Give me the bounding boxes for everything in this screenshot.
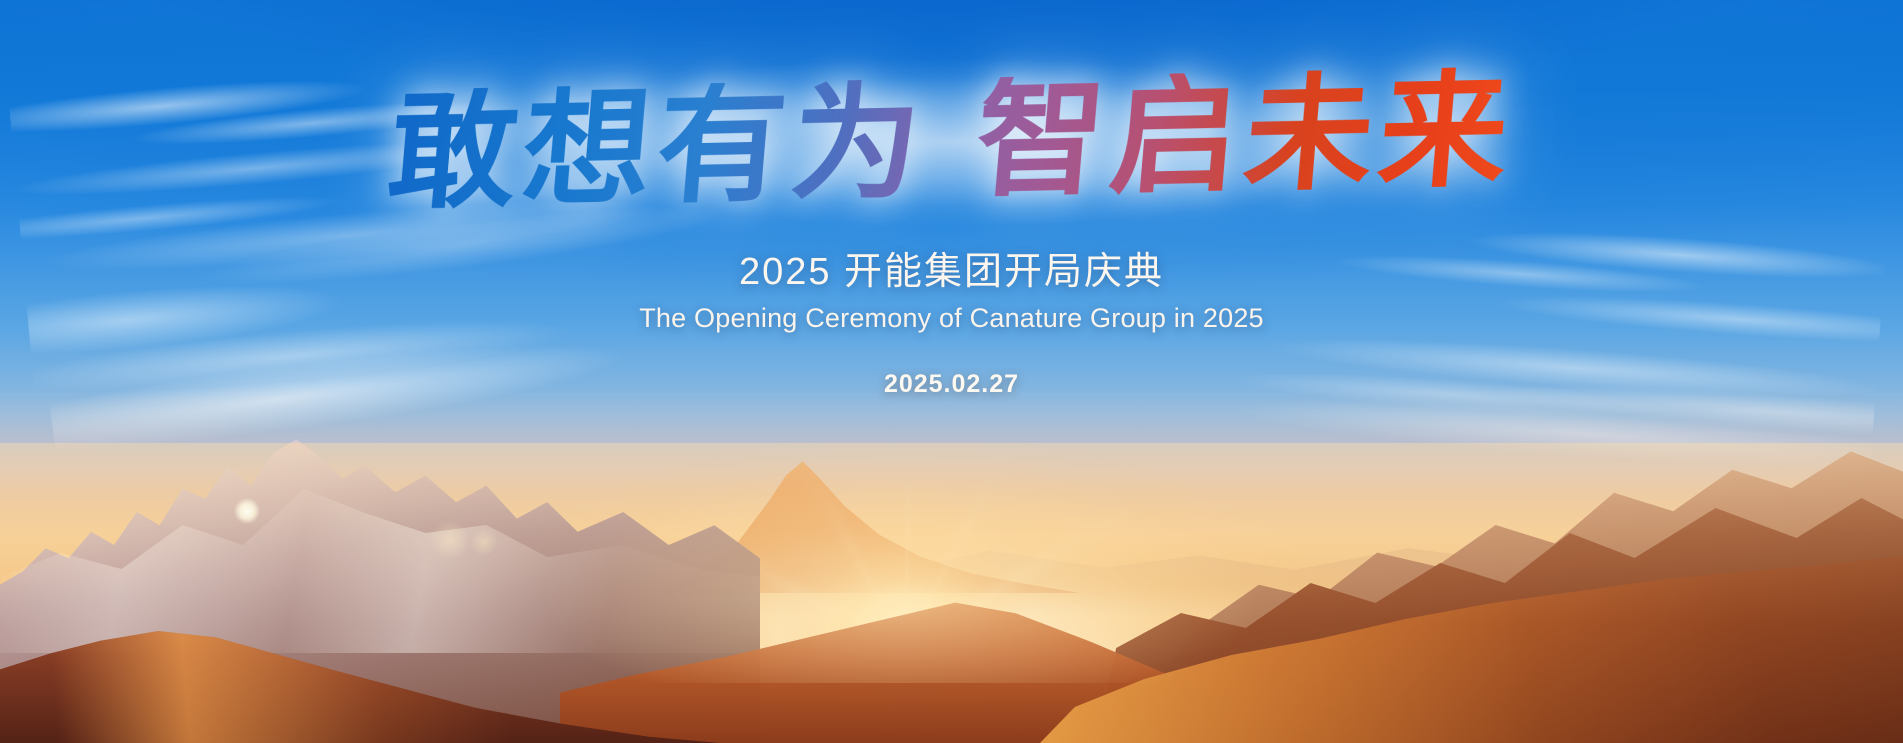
subtitle-english: The Opening Ceremony of Canature Group i… bbox=[639, 303, 1264, 334]
banner-content: 敢想有为 智启未来 2025 开能集团开局庆典 The Opening Cere… bbox=[0, 0, 1903, 743]
event-banner: 敢想有为 智启未来 2025 开能集团开局庆典 The Opening Cere… bbox=[0, 0, 1903, 743]
event-date: 2025.02.27 bbox=[884, 370, 1019, 399]
calligraphy-text: 敢想有为 智启未来 bbox=[384, 66, 1520, 217]
calligraphy-headline: 敢想有为 智启未来 bbox=[390, 78, 1513, 206]
subtitle-chinese: 2025 开能集团开局庆典 bbox=[739, 240, 1164, 295]
